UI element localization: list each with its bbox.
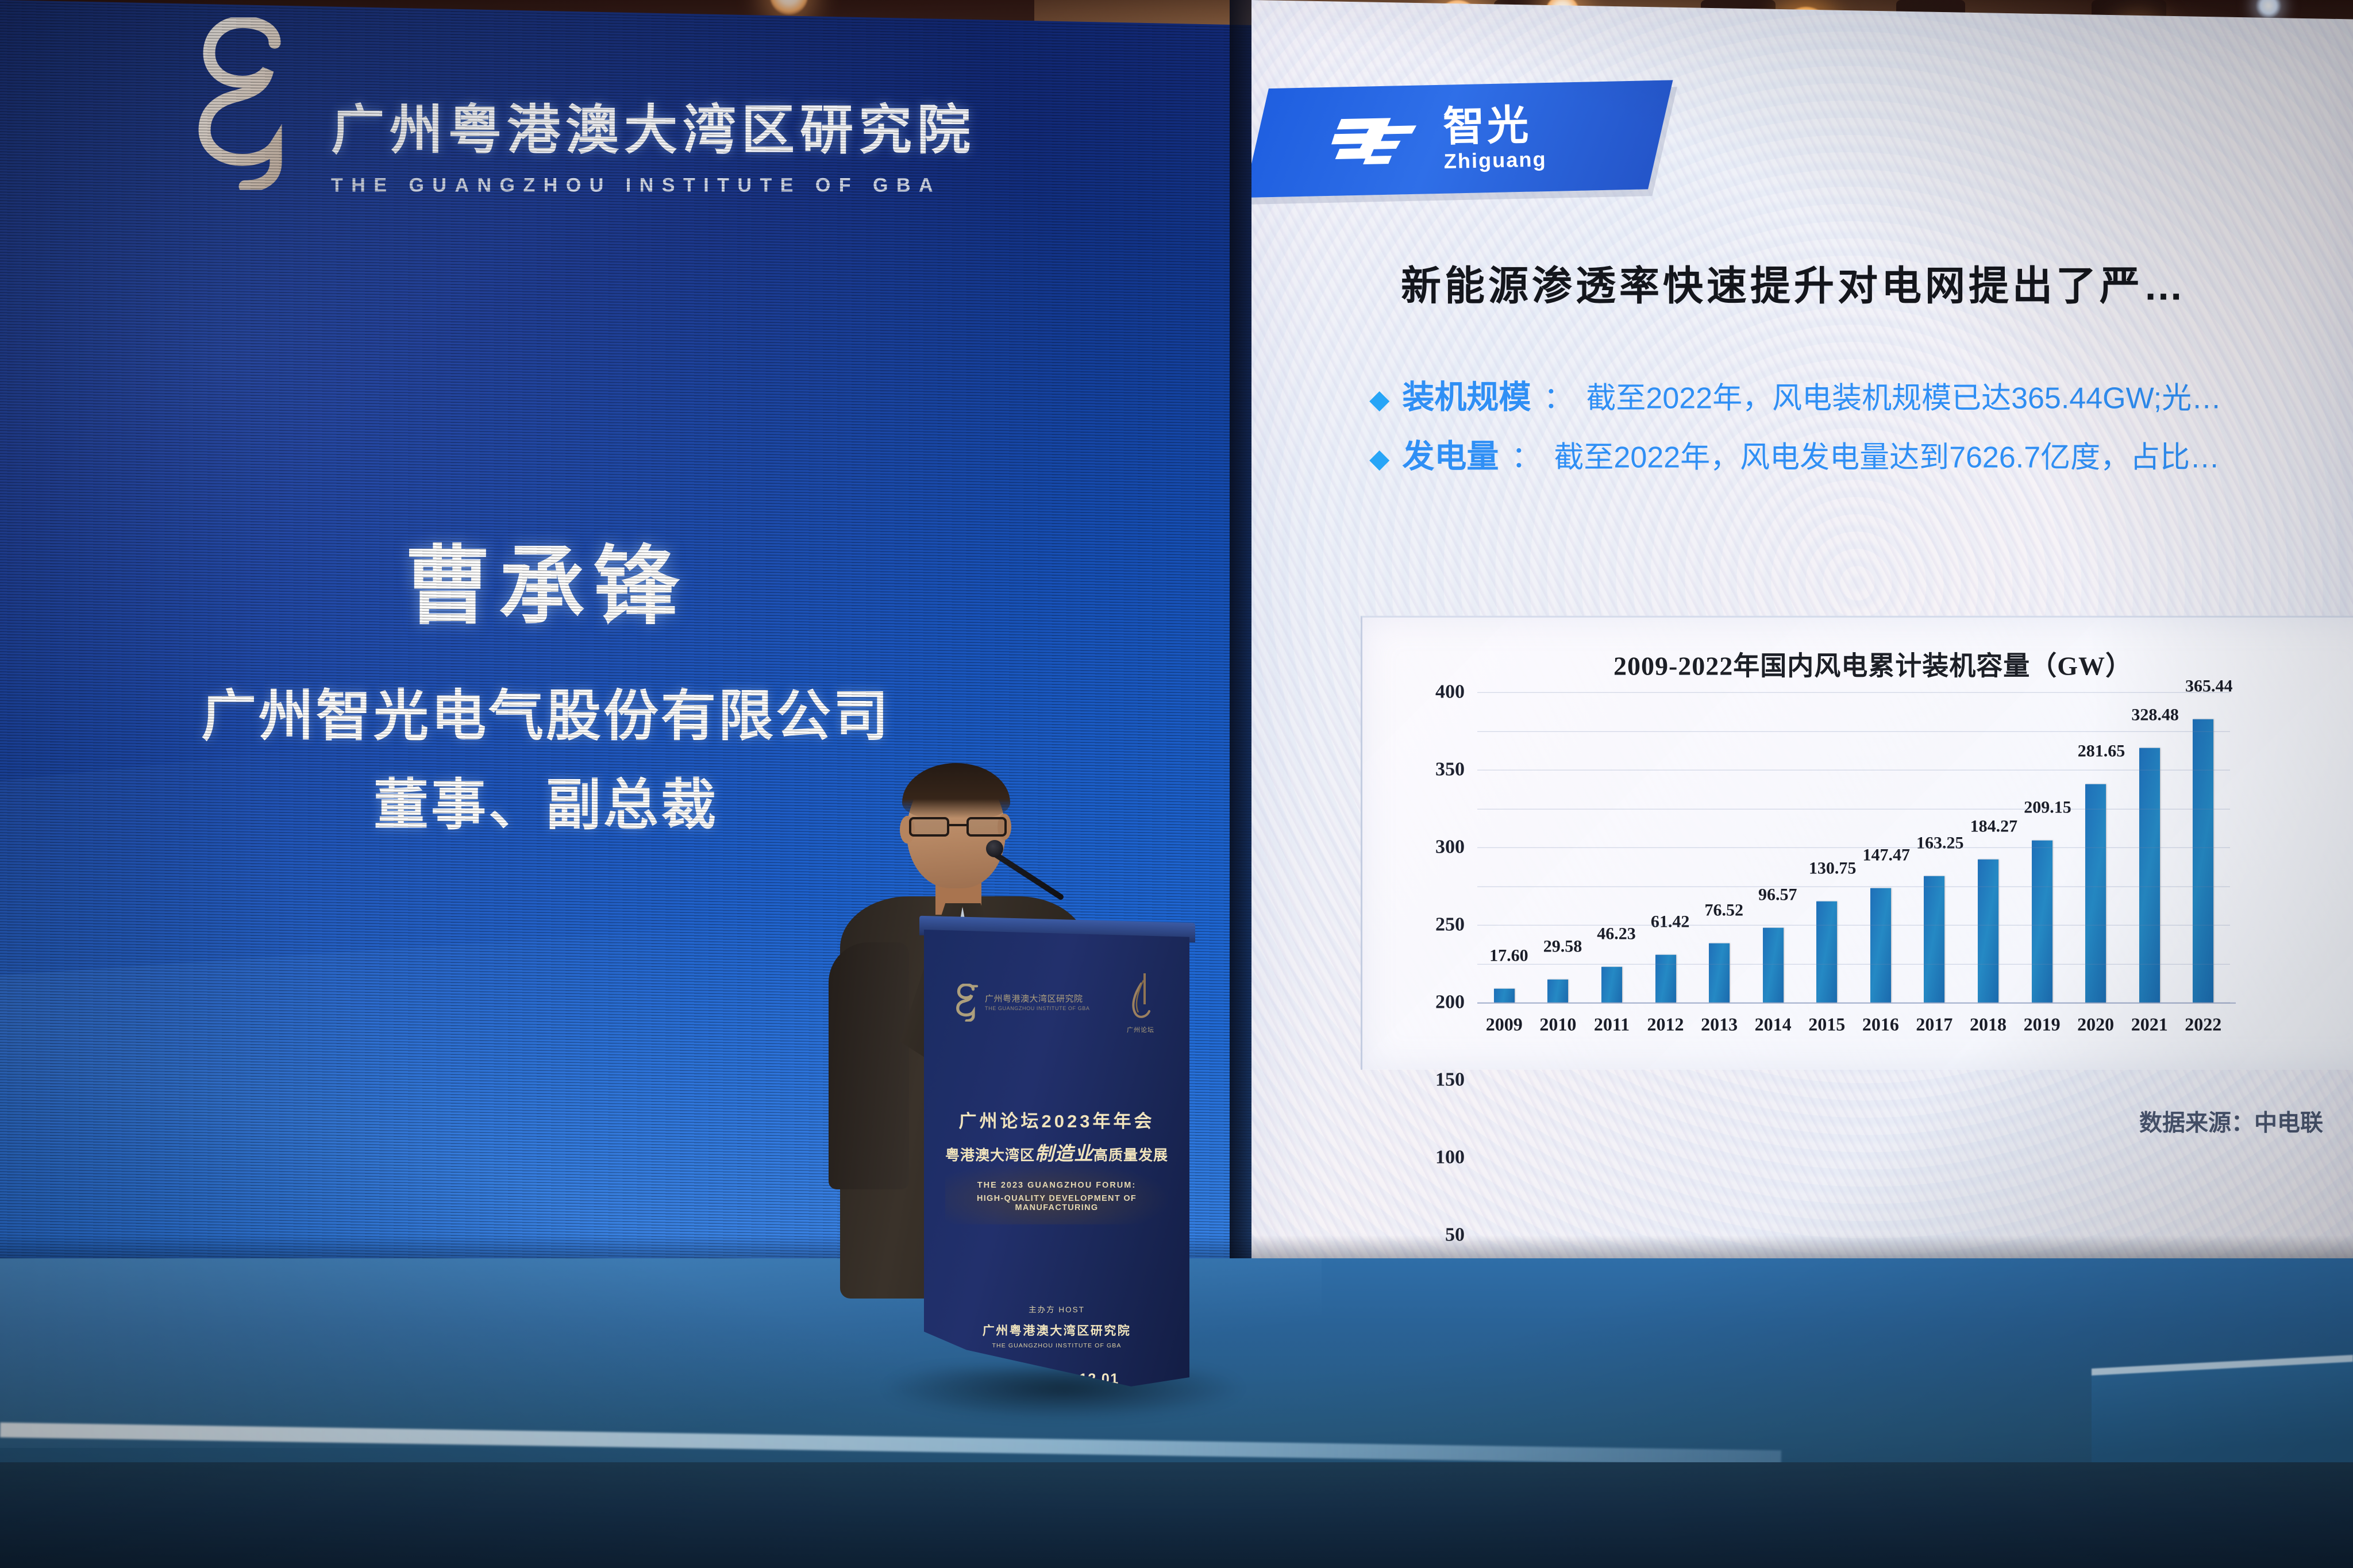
chart-bar-value-label: 163.25 [1916,833,1964,853]
podium-forum-title-en-2: HIGH-QUALITY DEVELOPMENT OF MANUFACTURIN… [943,1194,1170,1212]
chart-bar [2032,840,2052,1002]
podium-forum-title-en-1: THE 2023 GUANGZHOU FORUM: [943,1181,1170,1190]
institute-g-monogram-icon [954,984,980,1022]
speaker-organization: 广州智光电气股份有限公司 [0,671,1092,751]
chart-bar-value-label: 76.52 [1704,900,1743,920]
chart-gridline: 150 [1477,886,2230,887]
chart-gridline: 250 [1477,808,2230,809]
zhiguang-name-en: Zhiguang [1443,149,1547,172]
diamond-bullet-icon: ◆ [1369,386,1389,413]
chart-bar [1601,966,1622,1002]
chart-bar [2193,719,2213,1002]
chart-gridline: 300 [1477,770,2230,770]
chart-x-tick-label: 2021 [2123,1014,2177,1035]
chart-x-tick-labels: 2009201020112012201320142015201620172018… [1477,1014,2230,1035]
chart-plot-area: 17.6029.5846.2361.4276.5296.57130.75147.… [1477,692,2230,1003]
speaker-hair [902,763,1010,818]
chart-bar-value-label: 61.42 [1651,912,1690,932]
podium-host-en: THE GUANGZHOU INSTITUTE OF GBA [943,1342,1170,1349]
speaker-name: 曹承锋 [0,517,1092,641]
slide-title: 新能源渗透率快速提升对电网提出了严… [1401,254,2187,312]
podium-host-cn: 广州粤港澳大湾区研究院 [943,1322,1170,1339]
podium-theme-script: 制造业 [1035,1143,1093,1164]
speaker-glasses [909,817,1010,838]
bullet-separator: ： [1511,433,1541,476]
chart-bar [1924,876,1944,1002]
chart-bar [1709,943,1730,1002]
chart-x-tick-label: 2022 [2177,1014,2231,1035]
chart-bar [2085,784,2106,1003]
glasses-lens [909,817,949,837]
podium-institute-en: THE GUANGZHOU INSTITUTE OF GBA [985,1005,1090,1012]
podium-tower-caption: 广州论坛 [1122,1025,1160,1034]
podium-theme-suffix: 高质量发展 [1093,1147,1168,1164]
podium-host-label: 主办方 HOST [943,1303,1170,1315]
canton-tower-icon [1122,971,1160,1024]
stage-light-icon [770,0,808,15]
bullet-key: 装机规模 [1402,372,1531,418]
bullet-key: 发电量 [1402,431,1499,477]
chart-bar [1870,888,1891,1003]
chart-bar [1655,955,1676,1003]
chart-gridline: 400 [1477,692,2230,693]
chart-bar-value-label: 17.60 [1489,946,1528,966]
chart-x-axis [1477,1003,2236,1004]
chart-x-tick-label: 2016 [1854,1014,1908,1035]
chart-y-tick-label: 300 [1435,837,1465,858]
diamond-bullet-icon: ◆ [1369,445,1389,472]
chart-x-tick-label: 2019 [2015,1014,2069,1035]
chart-bar-value-label: 328.48 [2131,705,2179,725]
chart-bar-value-label: 209.15 [2024,798,2071,817]
chart-bar-value-label: 130.75 [1809,858,1857,878]
chart-gridline: 350 [1477,731,2230,731]
podium-theme-prefix: 粤港澳大湾区 [945,1147,1035,1164]
chart-bar [1763,927,1784,1002]
chart-y-tick-label: 150 [1435,1069,1465,1091]
chart-y-tick-label: 200 [1435,992,1465,1014]
chart-x-tick-label: 2020 [2069,1014,2123,1035]
chart-bar [1816,901,1837,1003]
chart-bar-value-label: 281.65 [2078,742,2125,761]
wind-capacity-chart: 2009-2022年国内风电累计装机容量（GW） 17.6029.5846.23… [1361,616,2353,1070]
chart-gridline: 50 [1477,964,2230,964]
chart-x-tick-label: 2009 [1477,1014,1531,1035]
zhiguang-name-cn: 智光 [1443,105,1546,148]
podium-forum-title-cn: 广州论坛2023年年会 [943,1107,1170,1132]
chart-bar-value-label: 46.23 [1597,924,1636,943]
speaker-shoulder [829,942,909,1189]
chart-y-tick-label: 400 [1435,681,1465,703]
chart-bar [1978,860,1998,1003]
glasses-bridge [949,824,966,826]
zhiguang-stripes-icon [1331,108,1424,173]
chart-x-tick-label: 2018 [1961,1014,2015,1035]
chart-y-tick-label: 350 [1435,759,1465,781]
chart-x-tick-label: 2011 [1585,1014,1639,1035]
chart-bar-value-label: 184.27 [1970,817,2018,837]
podium-logo-row: 广州粤港澳大湾区研究院 THE GUANGZHOU INSTITUTE OF G… [943,955,1170,1034]
bullet-item: ◆ 装机规模 ： 截至2022年，风电装机规模已达365.44GW;光… [1369,372,2221,418]
zhiguang-logo: 智光 Zhiguang [1251,80,1673,198]
institute-branding: 广州粤港澳大湾区研究院 THE GUANGZHOU INSTITUTE OF G… [190,17,976,197]
chart-source-note: 数据来源：中电联 [2139,1104,2323,1138]
podium: 广州粤港澳大湾区研究院 THE GUANGZHOU INSTITUTE OF G… [924,930,1189,1386]
institute-name-cn: 广州粤港澳大湾区研究院 [331,86,976,164]
chart-bar-value-label: 365.44 [2185,676,2233,696]
podium-theme: 粤港澳大湾区制造业高质量发展 [943,1138,1170,1166]
glasses-lens [966,817,1007,837]
chart-bar [1547,980,1568,1003]
podium-front-panel: 广州粤港澳大湾区研究院 THE GUANGZHOU INSTITUTE OF G… [924,930,1189,1386]
chart-x-tick-label: 2013 [1692,1014,1746,1035]
microphone-boom [990,850,1065,901]
chart-bar-value-label: 147.47 [1862,846,1910,865]
chart-bar-value-label: 29.58 [1543,937,1582,957]
stage-front-panel [0,1462,2353,1568]
bullet-body: 截至2022年，风电装机规模已达365.44GW;光… [1586,374,2221,417]
podium-institute-block: 广州粤港澳大湾区研究院 THE GUANGZHOU INSTITUTE OF G… [985,993,1090,1013]
chart-gridline: 200 [1477,847,2230,848]
chart-x-tick-label: 2015 [1800,1014,1854,1035]
right-projection-screen: 智光 Zhiguang 新能源渗透率快速提升对电网提出了严… ◆ 装机规模 ： … [1251,0,2353,1292]
podium-institute-cn: 广州粤港澳大湾区研究院 [985,993,1090,1005]
chart-gridline: 100 [1477,925,2230,926]
institute-name-en: THE GUANGZHOU INSTITUTE OF GBA [331,174,976,197]
bullet-item: ◆ 发电量 ： 截至2022年，风电发电量达到7626.7亿度，占比… [1369,431,2221,477]
slide-bullet-list: ◆ 装机规模 ： 截至2022年，风电装机规模已达365.44GW;光… ◆ 发… [1369,372,2221,490]
chart-x-tick-label: 2012 [1639,1014,1693,1035]
microphone-icon [986,840,1003,857]
chart-y-tick-label: 250 [1435,914,1465,936]
chart-x-tick-label: 2017 [1908,1014,1962,1035]
bullet-separator: ： [1543,374,1573,417]
chart-x-tick-label: 2014 [1746,1014,1800,1035]
bullet-body: 截至2022年，风电发电量达到7626.7亿度，占比… [1554,433,2220,476]
chart-x-tick-label: 2010 [1531,1014,1585,1035]
conference-stage-photo: 广州粤港澳大湾区研究院 THE GUANGZHOU INSTITUTE OF G… [0,0,2353,1568]
chart-bar-value-label: 96.57 [1758,885,1797,904]
chart-bar [1494,989,1515,1003]
chart-y-tick-label: 100 [1435,1147,1465,1169]
institute-g-monogram-icon [190,17,305,190]
